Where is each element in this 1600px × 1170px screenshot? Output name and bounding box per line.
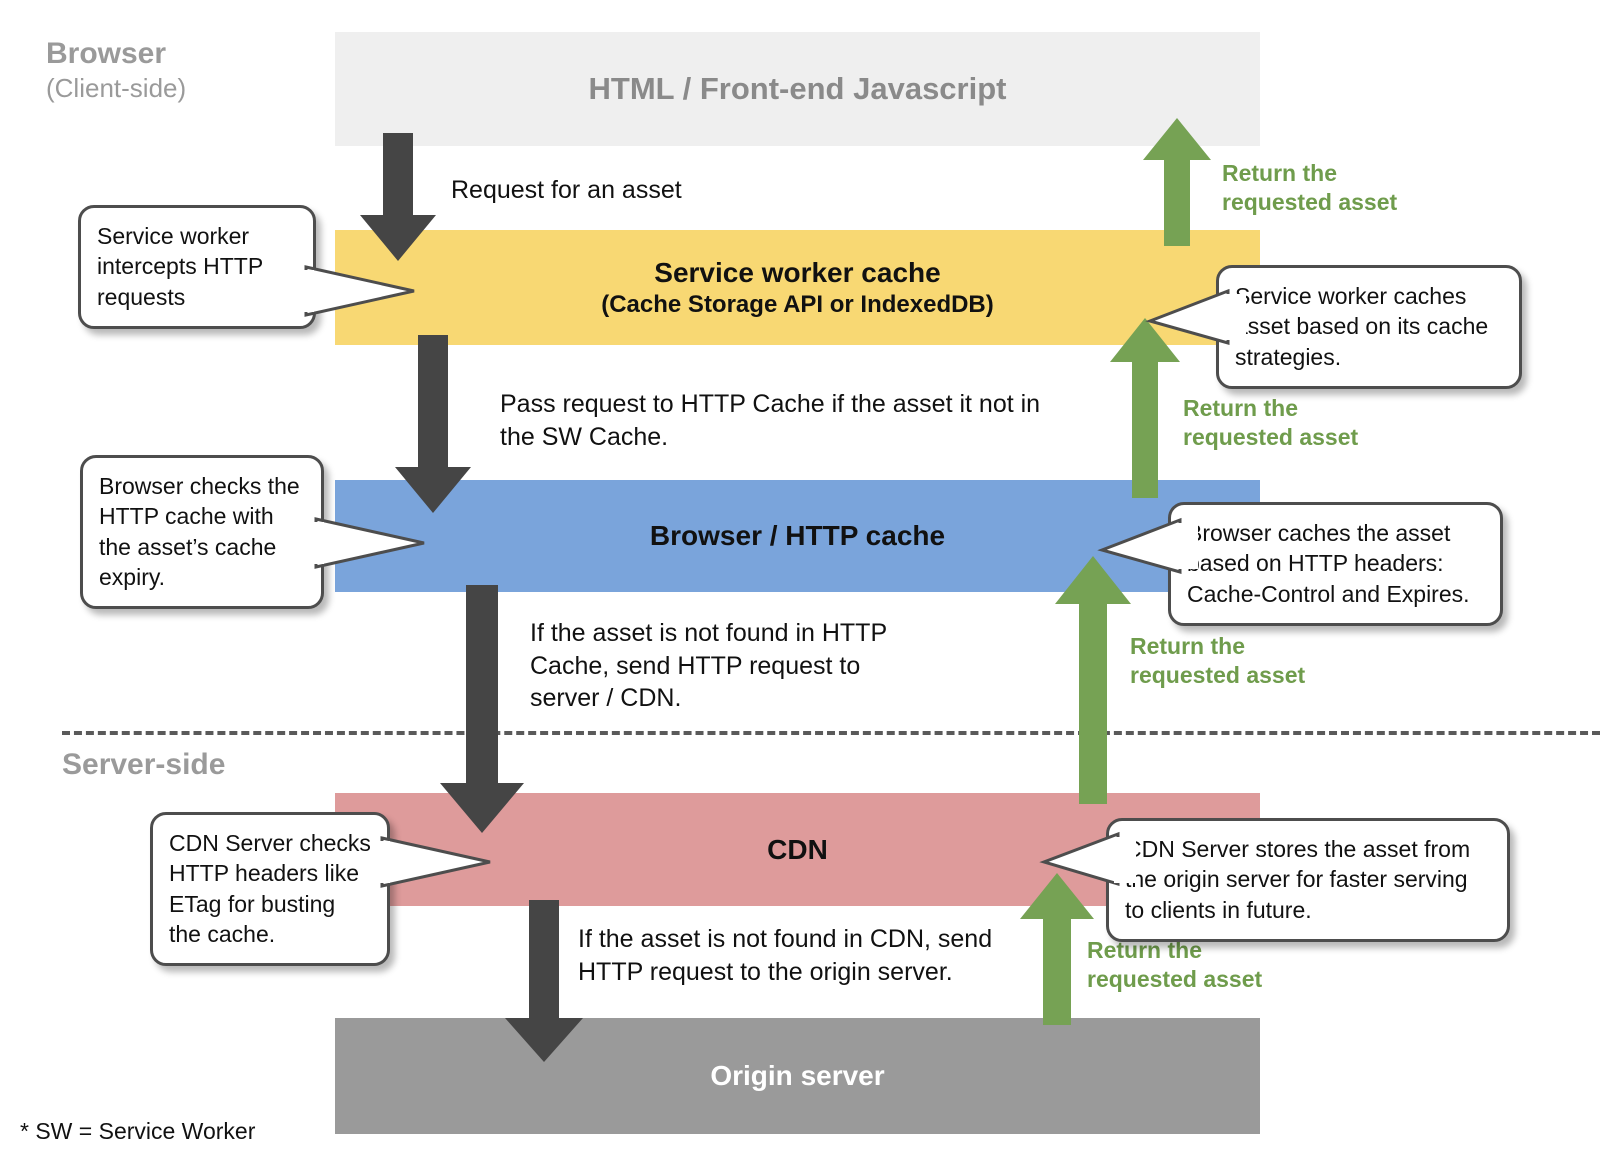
request-arrow-down-2	[395, 335, 471, 513]
layer-origin-title: Origin server	[710, 1060, 884, 1091]
return-arrow-up-4	[1020, 873, 1094, 1025]
step-text-3: If the asset is not found in HTTP Cache,…	[530, 617, 930, 715]
return-label-2: Return the requested asset	[1183, 394, 1413, 452]
callout-tail-left-icon	[1044, 832, 1100, 880]
callout-tail-right-icon	[316, 517, 372, 565]
diagram-canvas: Browser (Client-side) Server-side HTML /…	[0, 0, 1600, 1170]
callout-cdn-stores-text: CDN Server stores the asset from the ori…	[1125, 836, 1470, 923]
request-arrow-down-1	[360, 133, 436, 261]
return-arrow-up-3	[1055, 556, 1131, 804]
layer-cdn-title: CDN	[767, 834, 828, 865]
zone-label-browser-sub: (Client-side)	[46, 73, 186, 105]
layer-service-worker-subtitle: (Cache Storage API or IndexedDB)	[601, 291, 994, 319]
request-arrow-down-4	[505, 900, 583, 1062]
callout-sw-intercept: Service worker intercepts HTTP requests	[78, 205, 316, 329]
layer-origin-server: Origin server	[335, 1018, 1260, 1134]
callout-tail-left-icon	[1150, 289, 1206, 337]
layer-html-frontend: HTML / Front-end Javascript	[335, 32, 1260, 146]
callout-browser-caches-box: Browser caches the asset based on HTTP h…	[1168, 502, 1503, 626]
callout-sw-intercept-box: Service worker intercepts HTTP requests	[78, 205, 316, 329]
layer-http-cache-title: Browser / HTTP cache	[650, 520, 945, 551]
callout-sw-caches-box: Service worker caches asset based on its…	[1216, 265, 1522, 389]
return-label-4: Return the requested asset	[1087, 936, 1317, 994]
callout-sw-intercept-text: Service worker intercepts HTTP requests	[97, 223, 263, 310]
client-server-divider	[62, 731, 1600, 735]
callout-cdn-stores: CDN Server stores the asset from the ori…	[1106, 818, 1510, 942]
callout-cdn-checks-box: CDN Server checks HTTP headers like ETag…	[150, 812, 390, 966]
callout-tail-left-icon	[1102, 518, 1158, 566]
callout-cdn-stores-box: CDN Server stores the asset from the ori…	[1106, 818, 1510, 942]
return-label-1: Return the requested asset	[1222, 159, 1452, 217]
callout-sw-caches-text: Service worker caches asset based on its…	[1235, 283, 1488, 370]
callout-browser-checks: Browser checks the HTTP cache with the a…	[80, 455, 324, 609]
return-arrow-up-2	[1110, 318, 1180, 498]
callout-cdn-checks: CDN Server checks HTTP headers like ETag…	[150, 812, 390, 966]
callout-tail-right-icon	[306, 265, 362, 313]
request-arrow-down-3	[440, 585, 524, 833]
zone-label-browser-main: Browser	[46, 36, 186, 73]
return-label-3: Return the requested asset	[1130, 632, 1360, 690]
callout-browser-checks-box: Browser checks the HTTP cache with the a…	[80, 455, 324, 609]
step-text-1: Request for an asset	[451, 174, 871, 207]
step-text-4: If the asset is not found in CDN, send H…	[578, 923, 1008, 988]
callout-sw-caches: Service worker caches asset based on its…	[1216, 265, 1522, 389]
zone-label-server: Server-side	[62, 748, 225, 782]
layer-html-title: HTML / Front-end Javascript	[589, 72, 1007, 107]
return-arrow-up-1	[1143, 118, 1211, 246]
callout-tail-right-icon	[382, 836, 438, 884]
callout-browser-checks-text: Browser checks the HTTP cache with the a…	[99, 473, 300, 590]
callout-browser-caches-text: Browser caches the asset based on HTTP h…	[1187, 520, 1470, 607]
footnote-sw-definition: * SW = Service Worker	[20, 1118, 255, 1145]
zone-label-browser: Browser (Client-side)	[46, 36, 186, 104]
callout-browser-caches: Browser caches the asset based on HTTP h…	[1168, 502, 1503, 626]
layer-service-worker-title: Service worker cache	[654, 257, 940, 288]
step-text-2: Pass request to HTTP Cache if the asset …	[500, 388, 1080, 453]
callout-cdn-checks-text: CDN Server checks HTTP headers like ETag…	[169, 830, 371, 947]
